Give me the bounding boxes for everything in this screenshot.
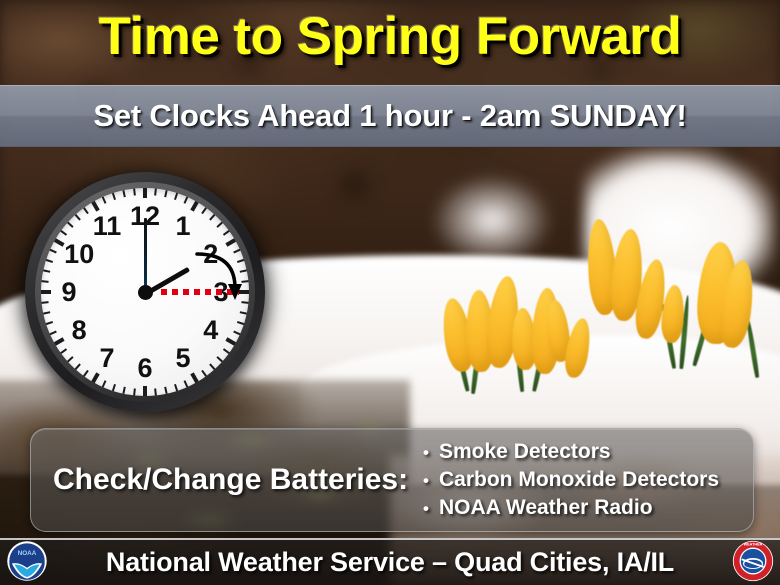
bullet-icon: • [413,495,439,522]
clock-tick [201,207,207,214]
clock-tick [240,311,247,314]
clock-tick [133,188,136,195]
clock-tick [174,193,178,200]
clock-tick [184,197,189,204]
clock-tick [91,372,99,383]
page-title: Time to Spring Forward [0,6,780,67]
clock-tick [67,222,74,228]
batteries-label: Check/Change Batteries: [53,463,413,497]
clock-tick [83,370,89,377]
clock-tick [133,388,136,395]
clock-tick [223,230,230,236]
bullet-icon: • [413,467,439,494]
clock-tick [209,214,215,221]
clock-numeral-11: 11 [92,211,122,241]
clock-numeral-1: 1 [168,211,198,241]
svg-text:WEATHER: WEATHER [744,542,763,546]
subtitle-text: Set Clocks Ahead 1 hour - 2am SUNDAY! [93,98,686,134]
clock-tick [233,331,240,336]
clock-tick [190,372,198,383]
clock-tick [164,387,167,394]
clock-numeral-5: 5 [168,343,198,373]
clock-minute-hand [144,218,147,294]
clock-tick [60,230,67,236]
clock-numeral-6: 6 [130,353,160,383]
clock-bezel: 123456789101112 [25,172,265,412]
clock-tick [41,290,51,294]
clock-tick [223,348,230,354]
clock-numeral-8: 8 [64,315,94,345]
nws-logo-icon: WEATHER [732,540,774,582]
clock-tick [225,337,236,345]
clock-tick [75,214,81,221]
clock-center-hub [138,285,153,300]
list-item-label: Smoke Detectors [439,438,611,465]
clock-tick [164,190,167,197]
clock-tick [122,387,125,394]
clock-tick [143,188,147,198]
clock-tick [237,321,244,325]
bullet-icon: • [413,439,439,466]
clock-tick [83,207,89,214]
clock-tick [46,259,53,263]
clock-tick [209,363,215,370]
clock-tick [225,238,236,246]
clock-tick [112,384,116,391]
clock-tick [43,269,50,272]
clock-tick [143,386,147,396]
clock-numeral-7: 7 [92,343,122,373]
footer-bar: NOAA National Weather Service – Quad Cit… [0,538,780,585]
list-item-label: NOAA Weather Radio [439,494,653,521]
clock-tick [50,249,57,254]
clock-tick [54,337,65,345]
clock-tick [54,238,65,246]
clock-tick [41,280,48,283]
clock-tick [184,380,189,387]
clock-tick [102,380,107,387]
clock-tick [216,222,223,228]
clock-tick [216,356,223,362]
clock-tick [46,321,53,325]
list-item: •Smoke Detectors [413,438,719,466]
clock-tick [201,370,207,377]
clock-numeral-10: 10 [64,239,94,269]
clock-tick [50,331,57,336]
clock-tick [41,301,48,304]
clock-tick [154,188,157,195]
clock-tick [102,197,107,204]
clock-tick [112,193,116,200]
list-item-label: Carbon Monoxide Detectors [439,466,719,493]
clock-tick [75,363,81,370]
clock-numeral-9: 9 [54,277,84,307]
list-item: •Carbon Monoxide Detectors [413,466,719,494]
batteries-list: •Smoke Detectors•Carbon Monoxide Detecto… [413,438,719,522]
clock-tick [43,311,50,314]
clock-tick [174,384,178,391]
clock-tick [67,356,74,362]
crocus-small-center [545,290,615,390]
batteries-panel: Check/Change Batteries: •Smoke Detectors… [30,428,754,532]
clock-tick [91,201,99,212]
analog-clock: 123456789101112 [25,172,265,412]
clock-tick [190,201,198,212]
footer-text: National Weather Service – Quad Cities, … [106,547,674,578]
curved-arrow-icon [191,248,251,308]
noaa-wordmark: NOAA [18,550,37,557]
list-item: •NOAA Weather Radio [413,494,719,522]
crocus-right [692,238,780,378]
clock-tick [60,348,67,354]
subtitle-bar: Set Clocks Ahead 1 hour - 2am SUNDAY! [0,85,780,147]
noaa-logo-icon: NOAA [6,540,48,582]
clock-numeral-4: 4 [196,315,226,345]
clock-face: 123456789101112 [41,188,249,396]
clock-tick [154,388,157,395]
clock-tick [122,190,125,197]
poster-canvas: Time to Spring Forward Set Clocks Ahead … [0,0,780,585]
